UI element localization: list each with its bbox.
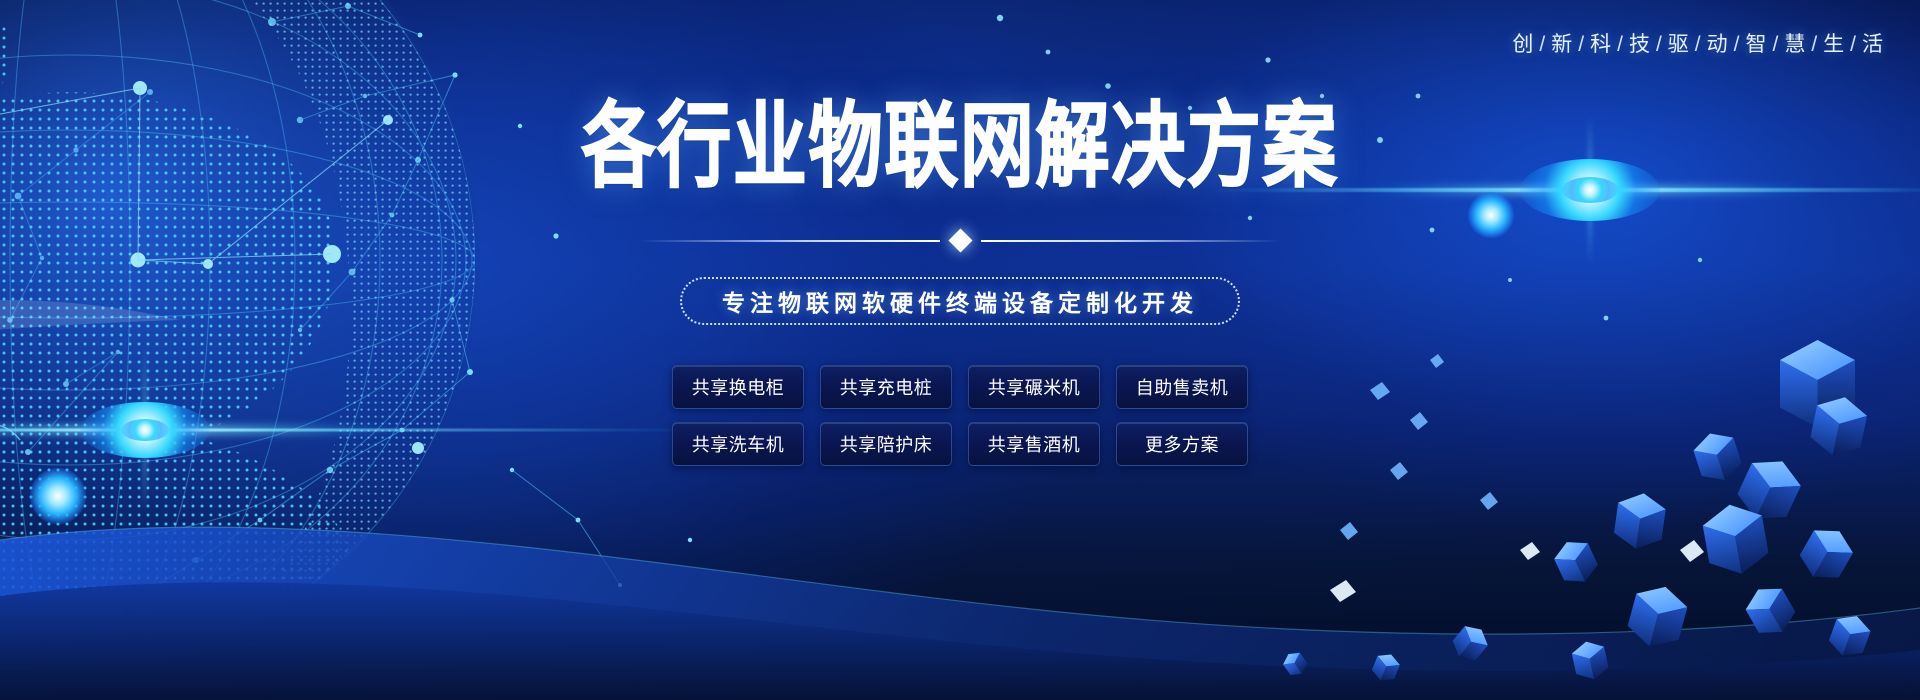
solution-button-row-1: 共享换电柜 共享充电桩 共享碾米机 自助售卖机 [672,365,1248,409]
divider-line-right [981,240,1281,242]
tagline-char-3: 技 [1629,33,1651,56]
tagline-char-6: 智 [1745,33,1767,56]
tagline-separator: / [1811,33,1818,56]
solution-button-battery-cabinet[interactable]: 共享换电柜 [672,365,804,409]
tagline-separator: / [1617,33,1624,56]
subtitle-pill: 专注物联网软硬件终端设备定制化开发 [680,277,1240,325]
iot-solutions-hero-banner: 创/新/科/技/驱/动/智/慧/生/活 各行业物联网解决方案 专注物联网软硬件终… [0,0,1920,700]
solution-button-nursing-bed[interactable]: 共享陪护床 [820,422,952,466]
tagline-char-8: 生 [1823,33,1845,56]
solution-button-car-wash[interactable]: 共享洗车机 [672,422,804,466]
tagline-separator: / [1578,33,1585,56]
tagline-separator: / [1850,33,1857,56]
solution-button-rice-milling-machine[interactable]: 共享碾米机 [968,365,1100,409]
subtitle-text: 专注物联网软硬件终端设备定制化开发 [722,284,1198,318]
solution-button-row-2: 共享洗车机 共享陪护床 共享售酒机 更多方案 [672,422,1248,466]
tagline-char-7: 慧 [1784,33,1806,56]
tagline-separator: / [1734,33,1741,56]
solution-button-vending-machine[interactable]: 自助售卖机 [1116,365,1248,409]
diamond-icon [948,228,972,252]
tagline-char-4: 驱 [1668,33,1690,56]
tagline-separator: / [1772,33,1779,56]
tagline-separator: / [1695,33,1702,56]
brand-tagline: 创/新/科/技/驱/动/智/慧/生/活 [1512,28,1884,58]
solution-button-grid: 共享换电柜 共享充电桩 共享碾米机 自助售卖机 共享洗车机 共享陪护床 共享售酒… [672,365,1248,466]
tagline-char-0: 创 [1512,33,1534,56]
hero-title-text: 各行业物联网解决方案 [582,100,1339,193]
divider-line-left [640,240,940,242]
solution-button-charging-pile[interactable]: 共享充电桩 [820,365,952,409]
tagline-separator: / [1539,33,1546,56]
solution-button-more-solutions[interactable]: 更多方案 [1116,422,1248,466]
tagline-separator: / [1656,33,1663,56]
tagline-char-2: 科 [1590,33,1612,56]
tagline-char-5: 动 [1707,33,1729,56]
tagline-char-9: 活 [1862,33,1884,56]
title-divider [0,232,1920,249]
tagline-char-1: 新 [1551,33,1573,56]
solution-button-wine-vending[interactable]: 共享售酒机 [968,422,1100,466]
hero-title: 各行业物联网解决方案 [0,100,1920,176]
